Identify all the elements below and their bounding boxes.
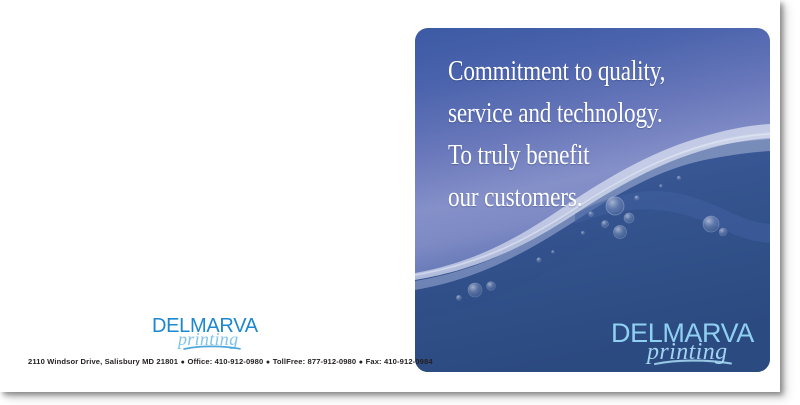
contact-address-line: 2110 Windsor Drive, Salisbury MD 21801●O…: [28, 357, 433, 366]
blue-quote-panel: Commitment to quality, service and techn…: [415, 28, 770, 372]
headline: Commitment to quality, service and techn…: [448, 50, 748, 218]
delmarva-printing-logo-reversed: DELMARVA printing: [611, 316, 761, 368]
separator-bullet-2: ●: [263, 359, 272, 366]
headline-line-2: service and technology.: [448, 92, 688, 134]
contact-office-label: Office:: [187, 357, 212, 366]
separator-bullet-3: ●: [356, 359, 365, 366]
contact-address: 2110 Windsor Drive, Salisbury MD 21801: [28, 357, 178, 366]
headline-line-4: our customers.: [448, 176, 688, 218]
page-sheet: Commitment to quality, service and techn…: [0, 0, 780, 392]
contact-office-phone: 410-912-0980: [215, 357, 264, 366]
delmarva-printing-logo: DELMARVA printing: [152, 312, 260, 352]
headline-line-1: Commitment to quality,: [448, 50, 688, 92]
contact-fax-label: Fax:: [366, 357, 382, 366]
contact-tollfree-label: TollFree:: [273, 357, 306, 366]
headline-line-3: To truly benefit: [448, 134, 688, 176]
contact-tollfree-phone: 877-912-0980: [308, 357, 357, 366]
screenshot-stage: Commitment to quality, service and techn…: [0, 0, 800, 405]
contact-fax-phone: 410-912-0984: [384, 357, 433, 366]
